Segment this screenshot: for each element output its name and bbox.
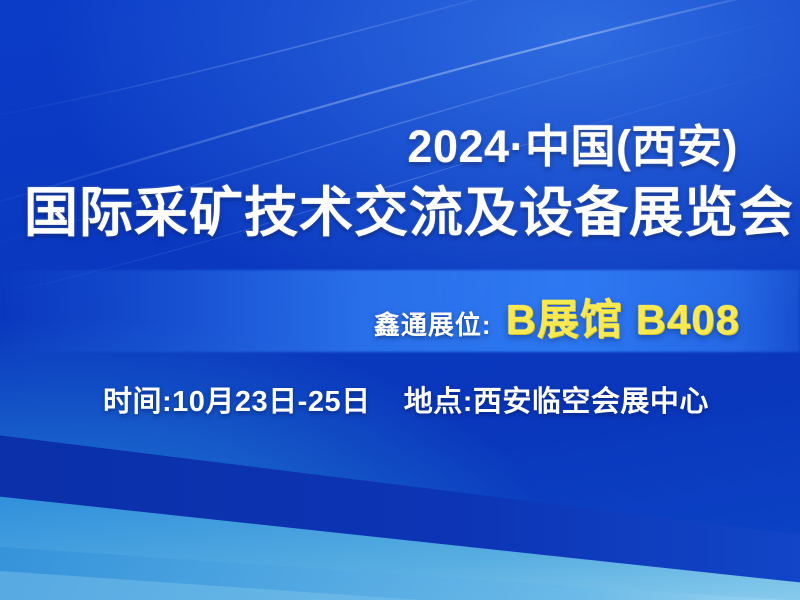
poster-text-layer: 2024·中国(西安) 国际采矿技术交流及设备展览会 鑫通展位: B展馆 B40… [0,0,800,600]
page-title-line-1: 2024·中国(西安) [407,121,738,173]
booth-info-row: 鑫通展位: B展馆 B408 [374,286,740,347]
booth-label: 鑫通展位: [374,305,492,342]
page-title-line-2: 国际采矿技术交流及设备展览会 [24,182,794,244]
event-poster: 2024·中国(西安) 国际采矿技术交流及设备展览会 鑫通展位: B展馆 B40… [0,0,800,600]
event-meta-line: 时间:10月23日-25日 地点:西安临空会展中心 [103,378,709,420]
event-date: 时间:10月23日-25日 [103,386,371,418]
booth-number: B展馆 B408 [506,286,740,347]
event-venue: 地点:西安临空会展中心 [404,386,709,418]
